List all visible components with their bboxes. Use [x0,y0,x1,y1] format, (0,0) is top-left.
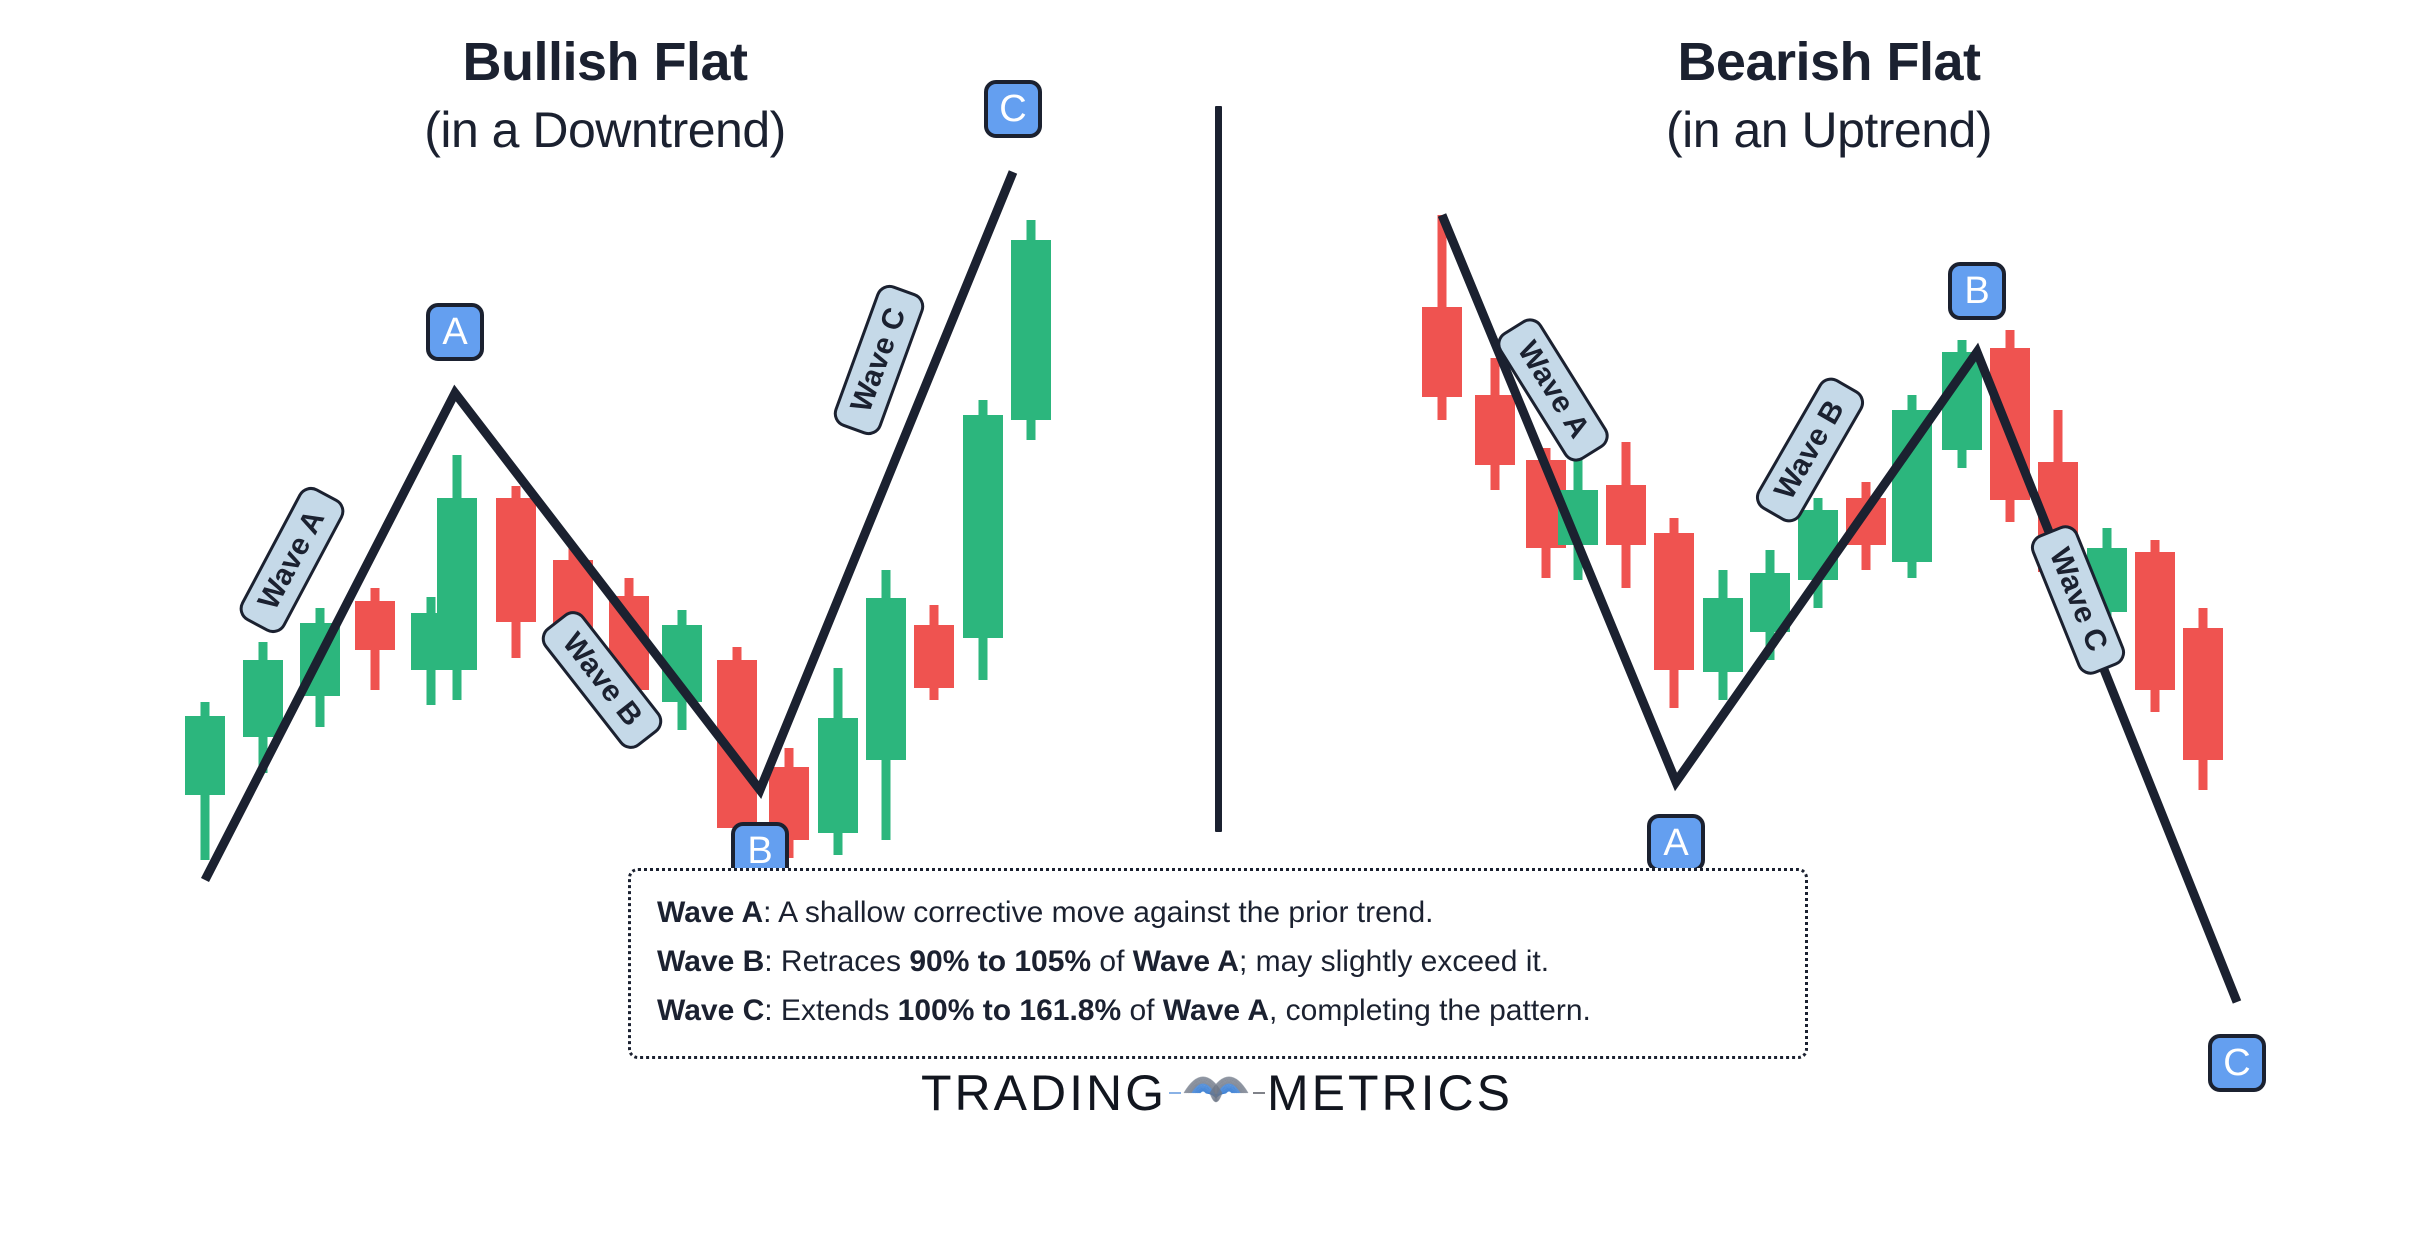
legend-wave-a-text: : A shallow corrective move against the … [763,896,1433,929]
candlestick [963,400,1003,680]
legend-wave-c-text-3: , completing the pattern. [1269,994,1591,1027]
candlestick [437,455,477,700]
candlestick [1942,340,1982,468]
candlestick [496,486,536,658]
candlestick [2135,540,2175,712]
legend-wave-c-label: Wave C [657,994,764,1027]
candlestick [1654,518,1694,708]
pivot-badge-a: A [426,303,484,361]
pivot-badge-b: B [1948,262,2006,320]
candlestick [1011,220,1051,440]
candlestick [662,610,702,730]
right-title-main: Bearish Flat [1224,30,2434,96]
candlestick [1526,448,1566,578]
candlestick [1606,442,1646,588]
wave-label-pill: Wave B [536,606,668,755]
candlestick [300,608,340,727]
candlestick [243,642,283,773]
legend-wave-c-text-1: : Extends [764,994,897,1027]
brand-logo: TRADING METRICS [0,1058,2434,1128]
wave-label-pill: Wave A [235,482,350,638]
candlestick [185,702,225,860]
candlestick [1475,358,1515,490]
panel-divider [1215,106,1222,832]
legend-wave-c-text-2: of [1121,994,1163,1027]
candles-layer [185,215,2223,860]
legend-wave-b-text-3: ; may slightly exceed it. [1239,945,1549,978]
legend-wave-b-text-2: of [1091,945,1133,978]
candlestick [1892,395,1932,578]
candlestick [1798,498,1838,608]
candlestick [1750,550,1790,660]
candlestick [411,597,451,705]
brand-word-metrics: METRICS [1267,1064,1513,1122]
candlestick [866,570,906,840]
legend-box: Wave A: A shallow corrective move agains… [628,868,1808,1059]
legend-wave-b-percent: 90% to 105% [909,945,1091,978]
candlestick [1558,458,1598,580]
candlestick [717,647,757,848]
legend-line-wave-c: Wave C: Extends 100% to 161.8% of Wave A… [657,987,1779,1036]
legend-line-wave-a: Wave A: A shallow corrective move agains… [657,889,1779,938]
pivot-badge-c: C [984,80,1042,138]
legend-wave-b-text-1: : Retraces [764,945,909,978]
brand-word-trading: TRADING [921,1064,1167,1122]
legend-line-wave-b: Wave B: Retraces 90% to 105% of Wave A; … [657,938,1779,987]
legend-wave-c-reference: Wave A [1163,994,1269,1027]
waveform-icon [1169,1058,1265,1128]
candlestick [818,668,858,855]
right-panel-title: Bearish Flat (in an Uptrend) [1224,30,2434,161]
legend-wave-b-reference: Wave A [1133,945,1239,978]
legend-wave-b-label: Wave B [657,945,764,978]
candlestick [1422,215,1462,420]
wave-label-pill: Wave C [830,281,928,439]
wave-label-pill: Wave B [1751,373,1869,528]
candlestick [914,605,954,700]
legend-wave-a-label: Wave A [657,896,763,929]
candlestick [1703,570,1743,700]
right-title-sub: (in an Uptrend) [1224,100,2434,161]
diagram-root: Bullish Flat (in a Downtrend) Bearish Fl… [0,0,2434,1238]
candlestick [1990,330,2030,522]
legend-wave-c-percent: 100% to 161.8% [898,994,1121,1027]
wave-label-pill: Wave C [2027,521,2130,679]
pivot-badge-a: A [1647,814,1705,872]
candlestick [1846,482,1886,570]
candlestick [355,588,395,690]
candlestick [2183,608,2223,790]
wave-label-pill: Wave A [1492,313,1614,467]
